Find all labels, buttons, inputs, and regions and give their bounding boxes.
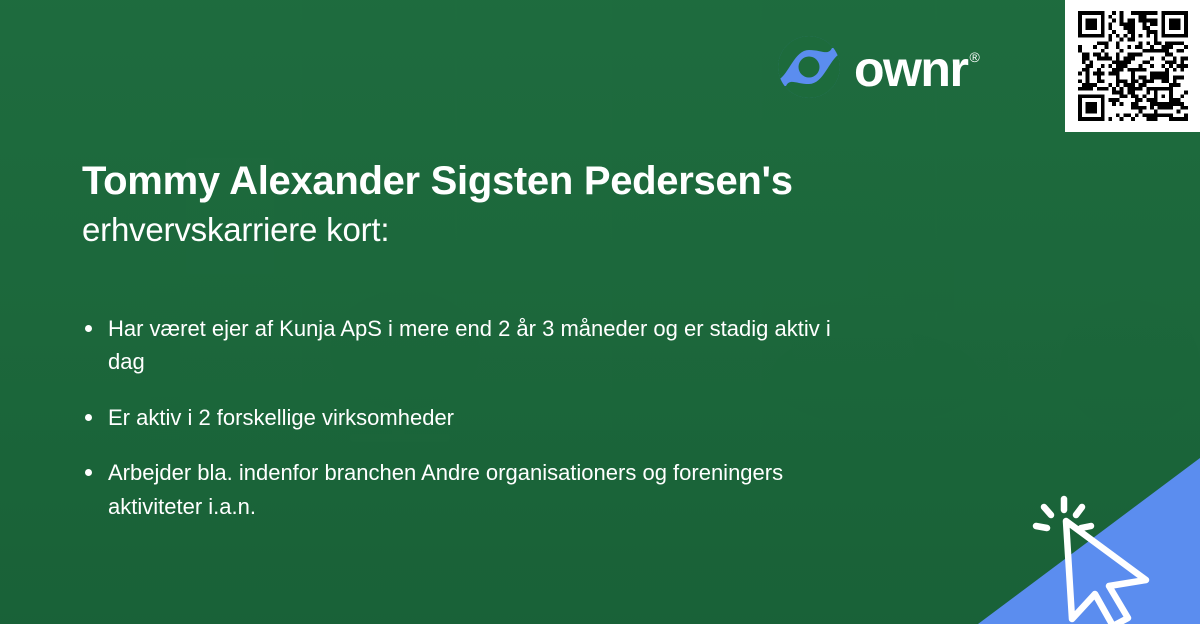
- person-name: Tommy Alexander Sigsten Pedersen's: [82, 158, 982, 205]
- business-career-card: ownr® Tommy Alexander Sigsten Pedersen's…: [0, 0, 1200, 624]
- list-item: Har været ejer af Kunja ApS i mere end 2…: [82, 312, 872, 379]
- registered-trademark-symbol: ®: [969, 49, 979, 65]
- qr-code-icon[interactable]: [1078, 11, 1188, 121]
- career-facts-list: Har været ejer af Kunja ApS i mere end 2…: [82, 312, 872, 545]
- ownr-circle-swoosh-icon: [778, 36, 840, 98]
- list-item: Er aktiv i 2 forskellige virksomheder: [82, 401, 872, 434]
- brand-wordmark: ownr®: [854, 42, 978, 92]
- brand-wordmark-text: ownr: [854, 41, 967, 97]
- brand-logo[interactable]: ownr®: [778, 36, 978, 98]
- list-item: Arbejder bla. indenfor branchen Andre or…: [82, 456, 872, 523]
- qr-code-panel[interactable]: [1065, 0, 1200, 132]
- page-subtitle: erhvervskarriere kort:: [82, 209, 982, 250]
- page-title: Tommy Alexander Sigsten Pedersen's erhve…: [82, 158, 982, 250]
